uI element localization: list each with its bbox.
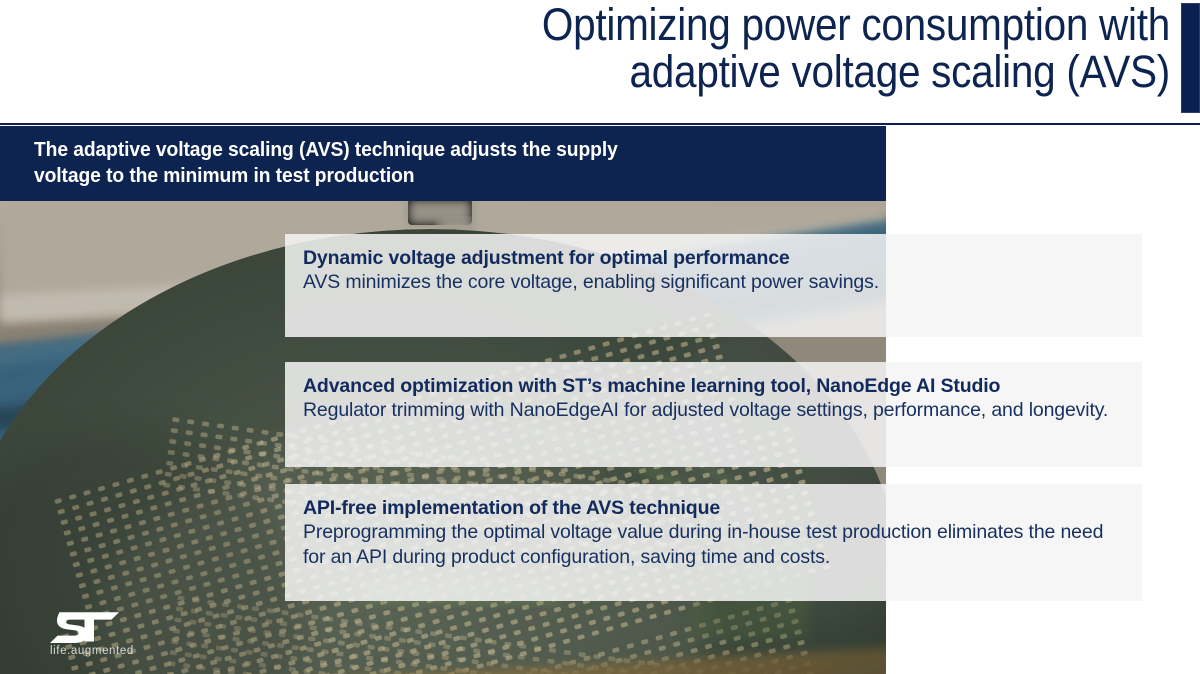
st-logo: life.augmented: [48, 610, 188, 668]
st-logo-tagline: life.augmented: [50, 645, 188, 657]
content-card-1: Dynamic voltage adjustment for optimal p…: [285, 234, 1142, 337]
banner: The adaptive voltage scaling (AVS) techn…: [0, 126, 886, 201]
card-3-heading: API-free implementation of the AVS techn…: [303, 496, 1126, 520]
slide: Optimizing power consumption with adapti…: [0, 0, 1200, 674]
content-card-3: API-free implementation of the AVS techn…: [285, 484, 1142, 601]
page-title: Optimizing power consumption with adapti…: [342, 2, 1170, 96]
content-card-2: Advanced optimization with ST’s machine …: [285, 362, 1142, 467]
card-2-heading: Advanced optimization with ST’s machine …: [303, 374, 1126, 398]
card-3-body: Preprogramming the optimal voltage value…: [303, 520, 1126, 570]
banner-text: The adaptive voltage scaling (AVS) techn…: [34, 137, 816, 189]
card-1-body: AVS minimizes the core voltage, enabling…: [303, 270, 1126, 295]
card-2-body: Regulator trimming with NanoEdgeAI for a…: [303, 398, 1126, 423]
card-1-heading: Dynamic voltage adjustment for optimal p…: [303, 246, 1126, 270]
title-accent-bar: [1181, 3, 1200, 113]
